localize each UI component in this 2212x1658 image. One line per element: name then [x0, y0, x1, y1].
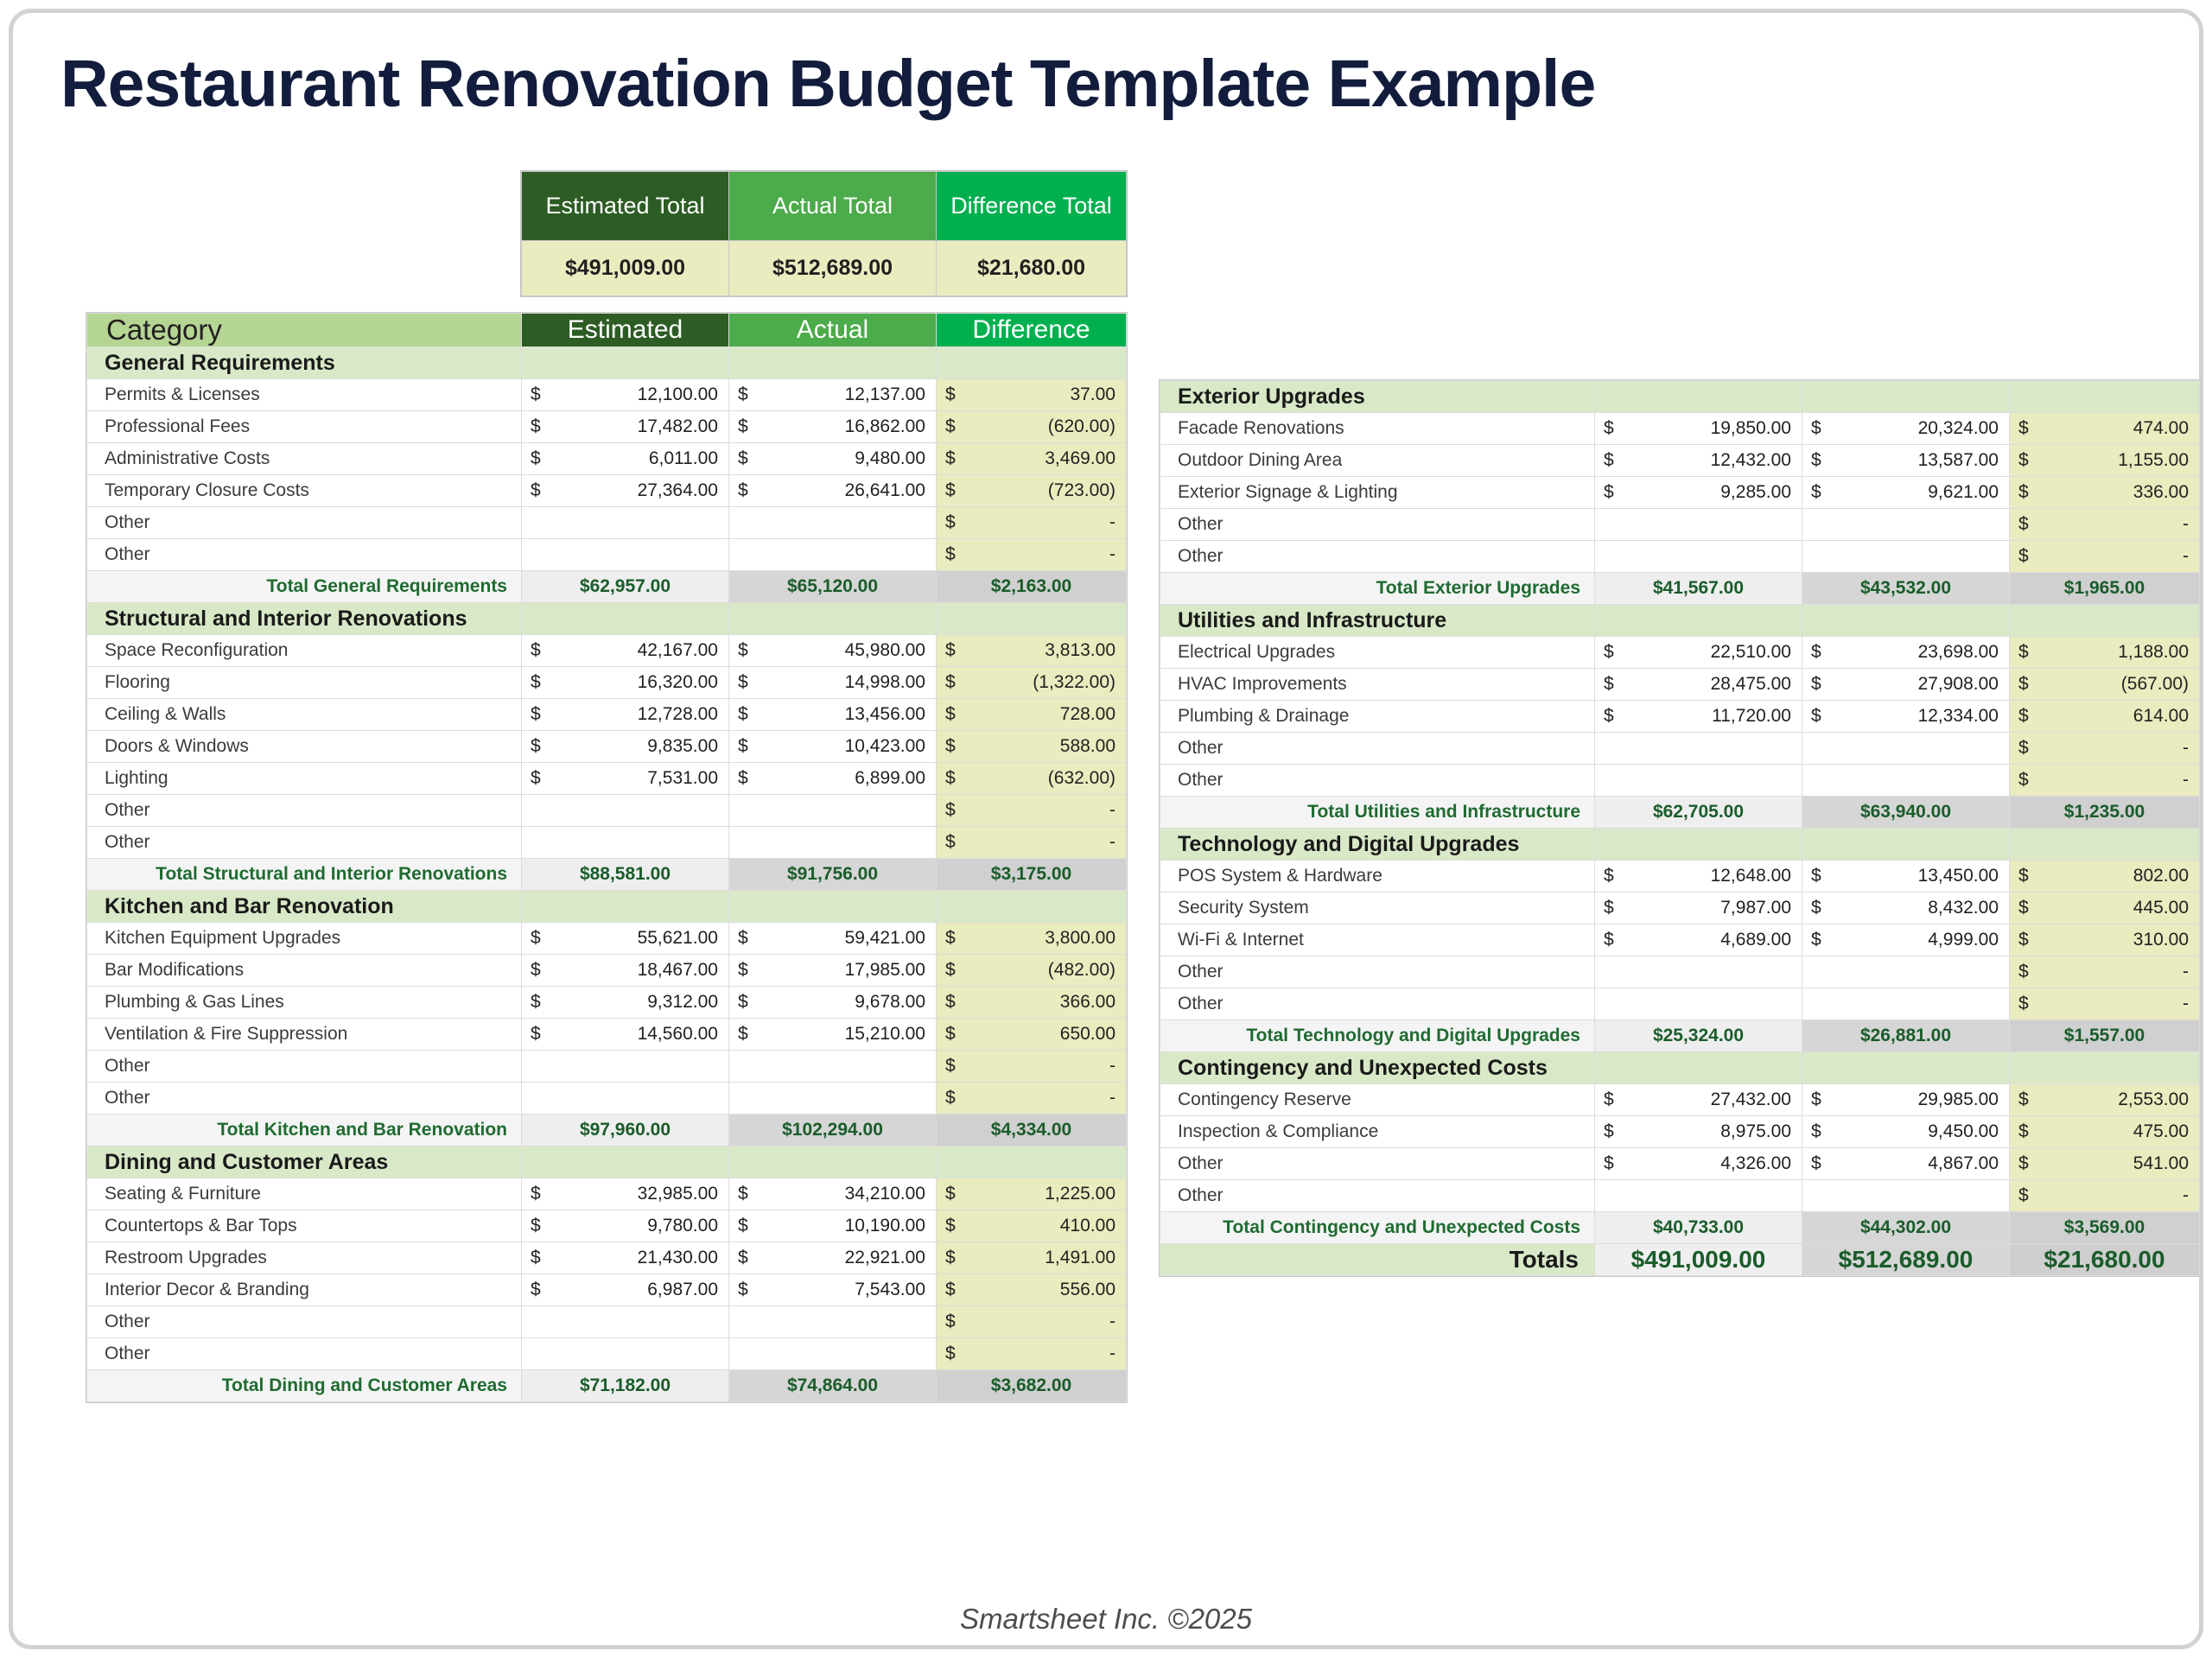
section-total-label: Total Utilities and Infrastructure	[1160, 797, 1595, 829]
line-item-label[interactable]: Doors & Windows	[87, 731, 522, 763]
line-item-actual[interactable]: $23,698.00	[1802, 637, 2010, 669]
line-item-difference[interactable]: $-	[2010, 956, 2200, 988]
line-item-label[interactable]: Permits & Licenses	[87, 379, 522, 411]
line-item-difference[interactable]: $614.00	[2010, 701, 2200, 733]
section-total-estimated: $88,581.00	[522, 859, 729, 891]
line-item-actual[interactable]	[1802, 509, 2010, 541]
line-item-estimated[interactable]: $55,621.00	[522, 923, 729, 955]
line-item-actual[interactable]: $7,543.00	[729, 1274, 937, 1306]
line-item-label[interactable]: Outdoor Dining Area	[1160, 445, 1595, 477]
section-total-row: Total Exterior Upgrades$41,567.00$43,532…	[1160, 573, 2200, 605]
currency-symbol: $	[531, 672, 541, 693]
currency-symbol: $	[738, 960, 748, 981]
line-item-estimated[interactable]: $12,648.00	[1595, 861, 1802, 893]
currency-symbol: $	[1811, 866, 1821, 886]
line-item-actual[interactable]	[1802, 1180, 2010, 1212]
line-item-estimated[interactable]: $14,560.00	[522, 1019, 729, 1051]
line-item-actual[interactable]: $12,334.00	[1802, 701, 2010, 733]
section-header-blank-cell	[1802, 381, 2010, 413]
section-total-difference: $1,235.00	[2010, 797, 2200, 829]
line-item-actual[interactable]	[1802, 541, 2010, 573]
line-item-estimated[interactable]	[522, 507, 729, 539]
currency-symbol: $	[945, 1344, 956, 1364]
line-item-difference[interactable]: $(482.00)	[937, 955, 1127, 987]
currency-symbol: $	[2018, 450, 2029, 471]
line-item-estimated[interactable]: $27,364.00	[522, 475, 729, 507]
line-item-estimated[interactable]: $18,467.00	[522, 955, 729, 987]
section-header-blank-cell	[2010, 829, 2200, 861]
line-item-difference[interactable]: $410.00	[937, 1210, 1127, 1242]
line-item-difference[interactable]: $-	[937, 1306, 1127, 1338]
line-item-label[interactable]: Other	[1160, 733, 1595, 765]
currency-symbol: $	[945, 992, 956, 1013]
currency-symbol: $	[945, 1280, 956, 1300]
table-row: Other$-	[87, 1306, 1127, 1338]
line-item-actual[interactable]	[729, 1051, 937, 1083]
currency-symbol: $	[1604, 482, 1614, 503]
line-item-estimated[interactable]	[522, 1083, 729, 1115]
line-item-difference[interactable]: $-	[2010, 541, 2200, 573]
line-item-actual[interactable]	[729, 539, 937, 571]
line-item-difference[interactable]: $(723.00)	[937, 475, 1127, 507]
line-item-difference[interactable]: $445.00	[2010, 893, 2200, 924]
line-item-actual[interactable]: $34,210.00	[729, 1178, 937, 1210]
section-header-blank-cell	[1802, 1052, 2010, 1084]
line-item-actual[interactable]	[729, 507, 937, 539]
table-row: Professional Fees$17,482.00$16,862.00$(6…	[87, 411, 1127, 443]
section-total-row: Total Technology and Digital Upgrades$25…	[1160, 1020, 2200, 1052]
line-item-difference[interactable]: $3,813.00	[937, 635, 1127, 667]
currency-symbol: $	[738, 1248, 748, 1268]
table-row: Contingency Reserve$27,432.00$29,985.00$…	[1160, 1084, 2200, 1116]
line-item-estimated[interactable]: $19,850.00	[1595, 413, 1802, 445]
currency-symbol: $	[945, 1088, 956, 1109]
line-item-actual[interactable]	[1802, 765, 2010, 797]
currency-symbol: $	[738, 992, 748, 1013]
currency-symbol: $	[1811, 1153, 1821, 1174]
section-header-blank-cell	[729, 1147, 937, 1178]
line-item-actual[interactable]: $13,587.00	[1802, 445, 2010, 477]
section-header-blank-cell	[937, 347, 1127, 379]
column-header-category: Category	[87, 314, 522, 347]
line-item-label[interactable]: Other	[87, 539, 522, 571]
line-item-estimated[interactable]: $12,100.00	[522, 379, 729, 411]
currency-symbol: $	[738, 1280, 748, 1300]
currency-symbol: $	[2018, 642, 2029, 663]
currency-symbol: $	[2018, 674, 2029, 695]
line-item-estimated[interactable]: $7,531.00	[522, 763, 729, 795]
line-item-label[interactable]: HVAC Improvements	[1160, 669, 1595, 701]
line-item-label[interactable]: Facade Renovations	[1160, 413, 1595, 445]
currency-symbol: $	[738, 704, 748, 725]
table-row: Plumbing & Drainage$11,720.00$12,334.00$…	[1160, 701, 2200, 733]
line-item-estimated[interactable]: $11,720.00	[1595, 701, 1802, 733]
section-total-actual: $44,302.00	[1802, 1212, 2010, 1244]
line-item-label[interactable]: Other	[1160, 1148, 1595, 1180]
currency-symbol: $	[945, 1312, 956, 1332]
line-item-actual[interactable]: $6,899.00	[729, 763, 937, 795]
line-item-actual[interactable]: $15,210.00	[729, 1019, 937, 1051]
line-item-estimated[interactable]: $9,835.00	[522, 731, 729, 763]
line-item-difference[interactable]: $-	[937, 1338, 1127, 1370]
line-item-difference[interactable]: $1,491.00	[937, 1242, 1127, 1274]
line-item-label[interactable]: Security System	[1160, 893, 1595, 924]
line-item-estimated[interactable]	[1595, 509, 1802, 541]
line-item-label[interactable]: Electrical Upgrades	[1160, 637, 1595, 669]
line-item-difference[interactable]: $728.00	[937, 699, 1127, 731]
line-item-difference[interactable]: $-	[937, 507, 1127, 539]
line-item-difference[interactable]: $366.00	[937, 987, 1127, 1019]
line-item-label[interactable]: Other	[1160, 765, 1595, 797]
line-item-actual[interactable]: $16,862.00	[729, 411, 937, 443]
section-header-blank-cell	[2010, 1052, 2200, 1084]
line-item-estimated[interactable]	[522, 539, 729, 571]
line-item-actual[interactable]	[729, 1338, 937, 1370]
line-item-difference[interactable]: $475.00	[2010, 1116, 2200, 1148]
section-header-blank-cell	[937, 891, 1127, 923]
line-item-difference[interactable]: $3,469.00	[937, 443, 1127, 475]
section-total-label: Total General Requirements	[87, 571, 522, 603]
line-item-label[interactable]: Plumbing & Gas Lines	[87, 987, 522, 1019]
currency-symbol: $	[2018, 546, 2029, 567]
currency-symbol: $	[1604, 418, 1614, 439]
line-item-difference[interactable]: $310.00	[2010, 924, 2200, 956]
currency-symbol: $	[945, 512, 956, 533]
currency-symbol: $	[531, 480, 541, 501]
table-row: Other$-	[87, 795, 1127, 827]
line-item-label[interactable]: Other	[87, 827, 522, 859]
line-item-actual[interactable]	[729, 827, 937, 859]
table-row: Security System$7,987.00$8,432.00$445.00	[1160, 893, 2200, 924]
line-item-label[interactable]: Other	[87, 1051, 522, 1083]
line-item-estimated[interactable]: $8,975.00	[1595, 1116, 1802, 1148]
line-item-estimated[interactable]: $6,011.00	[522, 443, 729, 475]
line-item-actual[interactable]: $14,998.00	[729, 667, 937, 699]
currency-symbol: $	[738, 672, 748, 693]
line-item-estimated[interactable]: $28,475.00	[1595, 669, 1802, 701]
table-row: Countertops & Bar Tops$9,780.00$10,190.0…	[87, 1210, 1127, 1242]
section-header-row: Technology and Digital Upgrades	[1160, 829, 2200, 861]
section-header-blank-cell	[1595, 605, 1802, 637]
line-item-estimated[interactable]: $22,510.00	[1595, 637, 1802, 669]
line-item-difference[interactable]: $588.00	[937, 731, 1127, 763]
section-header-row: General Requirements	[87, 347, 1127, 379]
line-item-difference[interactable]: $-	[2010, 1180, 2200, 1212]
line-item-difference[interactable]: $650.00	[937, 1019, 1127, 1051]
currency-symbol: $	[2018, 866, 2029, 886]
line-item-actual[interactable]: $4,867.00	[1802, 1148, 2010, 1180]
line-item-label[interactable]: Other	[1160, 988, 1595, 1020]
section-header-blank-cell	[2010, 605, 2200, 637]
line-item-label[interactable]: Interior Decor & Branding	[87, 1274, 522, 1306]
line-item-difference[interactable]: $802.00	[2010, 861, 2200, 893]
line-item-estimated[interactable]: $42,167.00	[522, 635, 729, 667]
currency-symbol: $	[945, 1248, 956, 1268]
section-total-difference: $3,682.00	[937, 1370, 1127, 1402]
section-header-row: Exterior Upgrades	[1160, 381, 2200, 413]
line-item-actual[interactable]	[1802, 733, 2010, 765]
currency-symbol: $	[531, 704, 541, 725]
line-item-estimated[interactable]	[522, 1051, 729, 1083]
line-item-difference[interactable]: $1,155.00	[2010, 445, 2200, 477]
line-item-label[interactable]: Lighting	[87, 763, 522, 795]
currency-symbol: $	[945, 1056, 956, 1077]
line-item-estimated[interactable]	[522, 1306, 729, 1338]
line-item-actual[interactable]: $9,621.00	[1802, 477, 2010, 509]
currency-symbol: $	[945, 480, 956, 501]
line-item-difference[interactable]: $(1,322.00)	[937, 667, 1127, 699]
line-item-actual[interactable]: $27,908.00	[1802, 669, 2010, 701]
line-item-difference[interactable]: $-	[937, 795, 1127, 827]
line-item-actual[interactable]: $10,423.00	[729, 731, 937, 763]
line-item-estimated[interactable]	[1595, 733, 1802, 765]
currency-symbol: $	[1604, 1121, 1614, 1142]
line-item-actual[interactable]: $29,985.00	[1802, 1084, 2010, 1116]
section-total-difference: $3,569.00	[2010, 1212, 2200, 1244]
currency-symbol: $	[945, 544, 956, 565]
currency-symbol: $	[1811, 898, 1821, 918]
line-item-difference[interactable]: $541.00	[2010, 1148, 2200, 1180]
line-item-difference[interactable]: $-	[2010, 988, 2200, 1020]
line-item-label[interactable]: Other	[1160, 1180, 1595, 1212]
line-item-estimated[interactable]	[522, 795, 729, 827]
line-item-estimated[interactable]: $27,432.00	[1595, 1084, 1802, 1116]
section-header-row: Structural and Interior Renovations	[87, 603, 1127, 635]
line-item-estimated[interactable]: $17,482.00	[522, 411, 729, 443]
line-item-actual[interactable]: $9,450.00	[1802, 1116, 2010, 1148]
line-item-label[interactable]: Other	[87, 1338, 522, 1370]
line-item-difference[interactable]: $3,800.00	[937, 923, 1127, 955]
line-item-estimated[interactable]: $6,987.00	[522, 1274, 729, 1306]
line-item-actual[interactable]: $9,678.00	[729, 987, 937, 1019]
line-item-label[interactable]: Wi-Fi & Internet	[1160, 924, 1595, 956]
line-item-label[interactable]: Flooring	[87, 667, 522, 699]
line-item-estimated[interactable]: $12,432.00	[1595, 445, 1802, 477]
line-item-estimated[interactable]: $16,320.00	[522, 667, 729, 699]
line-item-label[interactable]: Plumbing & Drainage	[1160, 701, 1595, 733]
currency-symbol: $	[1604, 866, 1614, 886]
summary-header-actual-total: Actual Total	[729, 172, 937, 241]
section-total-difference: $3,175.00	[937, 859, 1127, 891]
section-header-blank-cell	[1595, 1052, 1802, 1084]
line-item-label[interactable]: Kitchen Equipment Upgrades	[87, 923, 522, 955]
currency-symbol: $	[945, 736, 956, 757]
grand-total-label: Totals	[1160, 1244, 1595, 1276]
line-item-label[interactable]: Seating & Furniture	[87, 1178, 522, 1210]
summary-value-estimated-total: $491,009.00	[522, 241, 729, 296]
section-total-estimated: $25,324.00	[1595, 1020, 1802, 1052]
line-item-actual[interactable]: $45,980.00	[729, 635, 937, 667]
line-item-label[interactable]: Other	[1160, 509, 1595, 541]
currency-symbol: $	[1604, 642, 1614, 663]
summary-header-difference-total: Difference Total	[937, 172, 1127, 241]
table-row: Temporary Closure Costs$27,364.00$26,641…	[87, 475, 1127, 507]
line-item-label[interactable]: Other	[1160, 541, 1595, 573]
line-item-actual[interactable]: $26,641.00	[729, 475, 937, 507]
table-row: Inspection & Compliance$8,975.00$9,450.0…	[1160, 1116, 2200, 1148]
line-item-label[interactable]: Bar Modifications	[87, 955, 522, 987]
section-header-blank-cell	[522, 1147, 729, 1178]
line-item-estimated[interactable]: $9,285.00	[1595, 477, 1802, 509]
line-item-label[interactable]: Exterior Signage & Lighting	[1160, 477, 1595, 509]
line-item-label[interactable]: Other	[87, 795, 522, 827]
line-item-actual[interactable]: $9,480.00	[729, 443, 937, 475]
line-item-difference[interactable]: $336.00	[2010, 477, 2200, 509]
line-item-actual[interactable]	[729, 1083, 937, 1115]
section-total-estimated: $97,960.00	[522, 1115, 729, 1147]
line-item-estimated[interactable]	[1595, 541, 1802, 573]
currency-symbol: $	[1604, 898, 1614, 918]
line-item-estimated[interactable]: $32,985.00	[522, 1178, 729, 1210]
section-total-row: Total Utilities and Infrastructure$62,70…	[1160, 797, 2200, 829]
line-item-actual[interactable]: $22,921.00	[729, 1242, 937, 1274]
line-item-actual[interactable]	[729, 1306, 937, 1338]
line-item-estimated[interactable]: $4,326.00	[1595, 1148, 1802, 1180]
line-item-estimated[interactable]: $9,780.00	[522, 1210, 729, 1242]
section-header-blank-cell	[729, 891, 937, 923]
line-item-difference[interactable]: $(632.00)	[937, 763, 1127, 795]
line-item-difference[interactable]: $1,188.00	[2010, 637, 2200, 669]
currency-symbol: $	[1604, 930, 1614, 950]
section-total-estimated: $62,957.00	[522, 571, 729, 603]
line-item-actual[interactable]: $10,190.00	[729, 1210, 937, 1242]
page-frame: Restaurant Renovation Budget Template Ex…	[9, 9, 2203, 1649]
table-row: Space Reconfiguration$42,167.00$45,980.0…	[87, 635, 1127, 667]
line-item-actual[interactable]: $13,450.00	[1802, 861, 2010, 893]
currency-symbol: $	[945, 800, 956, 821]
table-row: Kitchen Equipment Upgrades$55,621.00$59,…	[87, 923, 1127, 955]
currency-symbol: $	[2018, 962, 2029, 982]
line-item-label[interactable]: Countertops & Bar Tops	[87, 1210, 522, 1242]
line-item-label[interactable]: Professional Fees	[87, 411, 522, 443]
line-item-label[interactable]: Other	[87, 1306, 522, 1338]
line-item-actual[interactable]: $12,137.00	[729, 379, 937, 411]
currency-symbol: $	[531, 992, 541, 1013]
line-item-estimated[interactable]: $12,728.00	[522, 699, 729, 731]
line-item-actual[interactable]: $59,421.00	[729, 923, 937, 955]
table-row: Interior Decor & Branding$6,987.00$7,543…	[87, 1274, 1127, 1306]
line-item-estimated[interactable]	[1595, 956, 1802, 988]
currency-symbol: $	[945, 1024, 956, 1045]
line-item-difference[interactable]: $(567.00)	[2010, 669, 2200, 701]
summary-header-estimated-total: Estimated Total	[522, 172, 729, 241]
line-item-estimated[interactable]	[522, 827, 729, 859]
currency-symbol: $	[531, 640, 541, 661]
line-item-actual[interactable]	[1802, 956, 2010, 988]
line-item-difference[interactable]: $-	[937, 827, 1127, 859]
line-item-difference[interactable]: $474.00	[2010, 413, 2200, 445]
line-item-label[interactable]: Other	[87, 507, 522, 539]
table-row: Other$-	[87, 539, 1127, 571]
section-header-label: General Requirements	[87, 347, 522, 379]
line-item-difference[interactable]: $1,225.00	[937, 1178, 1127, 1210]
line-item-difference[interactable]: $556.00	[937, 1274, 1127, 1306]
line-item-actual[interactable]	[1802, 988, 2010, 1020]
line-item-estimated[interactable]	[1595, 765, 1802, 797]
currency-symbol: $	[1811, 1121, 1821, 1142]
table-row: Other$4,326.00$4,867.00$541.00	[1160, 1148, 2200, 1180]
line-item-estimated[interactable]: $9,312.00	[522, 987, 729, 1019]
currency-symbol: $	[945, 416, 956, 437]
line-item-difference[interactable]: $-	[937, 539, 1127, 571]
line-item-difference[interactable]: $-	[2010, 765, 2200, 797]
line-item-estimated[interactable]: $4,689.00	[1595, 924, 1802, 956]
line-item-label[interactable]: Restroom Upgrades	[87, 1242, 522, 1274]
currency-symbol: $	[2018, 770, 2029, 791]
currency-symbol: $	[531, 928, 541, 949]
currency-symbol: $	[738, 1184, 748, 1204]
line-item-actual[interactable]: $20,324.00	[1802, 413, 2010, 445]
line-item-actual[interactable]	[729, 795, 937, 827]
line-item-difference[interactable]: $-	[2010, 509, 2200, 541]
currency-symbol: $	[2018, 1121, 2029, 1142]
currency-symbol: $	[531, 1248, 541, 1268]
currency-symbol: $	[1604, 450, 1614, 471]
line-item-label[interactable]: Inspection & Compliance	[1160, 1116, 1595, 1148]
line-item-difference[interactable]: $37.00	[937, 379, 1127, 411]
line-item-difference[interactable]: $-	[937, 1083, 1127, 1115]
currency-symbol: $	[945, 672, 956, 693]
section-total-row: Total Kitchen and Bar Renovation$97,960.…	[87, 1115, 1127, 1147]
line-item-label[interactable]: Ceiling & Walls	[87, 699, 522, 731]
table-row: Other$-	[1160, 765, 2200, 797]
table-row: POS System & Hardware$12,648.00$13,450.0…	[1160, 861, 2200, 893]
line-item-difference[interactable]: $-	[937, 1051, 1127, 1083]
line-item-label[interactable]: Other	[1160, 956, 1595, 988]
table-row: Other$-	[1160, 733, 2200, 765]
line-item-actual[interactable]: $8,432.00	[1802, 893, 2010, 924]
currency-symbol: $	[2018, 418, 2029, 439]
line-item-estimated[interactable]: $21,430.00	[522, 1242, 729, 1274]
line-item-label[interactable]: POS System & Hardware	[1160, 861, 1595, 893]
line-item-label[interactable]: Space Reconfiguration	[87, 635, 522, 667]
line-item-actual[interactable]: $13,456.00	[729, 699, 937, 731]
line-item-difference[interactable]: $2,553.00	[2010, 1084, 2200, 1116]
line-item-difference[interactable]: $(620.00)	[937, 411, 1127, 443]
section-header-label: Technology and Digital Upgrades	[1160, 829, 1595, 861]
line-item-label[interactable]: Contingency Reserve	[1160, 1084, 1595, 1116]
section-total-label: Total Structural and Interior Renovation…	[87, 859, 522, 891]
currency-symbol: $	[945, 704, 956, 725]
line-item-estimated[interactable]: $7,987.00	[1595, 893, 1802, 924]
currency-symbol: $	[945, 928, 956, 949]
table-row: Facade Renovations$19,850.00$20,324.00$4…	[1160, 413, 2200, 445]
line-item-label[interactable]: Other	[87, 1083, 522, 1115]
line-item-actual[interactable]: $17,985.00	[729, 955, 937, 987]
section-total-row: Total General Requirements$62,957.00$65,…	[87, 571, 1127, 603]
line-item-label[interactable]: Administrative Costs	[87, 443, 522, 475]
footer-attribution: Smartsheet Inc. ©2025	[13, 1603, 2199, 1636]
line-item-difference[interactable]: $-	[2010, 733, 2200, 765]
currency-symbol: $	[738, 768, 748, 789]
table-row: Other$-	[1160, 541, 2200, 573]
line-item-label[interactable]: Ventilation & Fire Suppression	[87, 1019, 522, 1051]
currency-symbol: $	[2018, 706, 2029, 727]
line-item-estimated[interactable]	[1595, 1180, 1802, 1212]
line-item-estimated[interactable]	[1595, 988, 1802, 1020]
currency-symbol: $	[945, 1216, 956, 1236]
line-item-label[interactable]: Temporary Closure Costs	[87, 475, 522, 507]
section-total-difference: $1,965.00	[2010, 573, 2200, 605]
table-row: Administrative Costs$6,011.00$9,480.00$3…	[87, 443, 1127, 475]
section-header-blank-cell	[1802, 605, 2010, 637]
currency-symbol: $	[531, 448, 541, 469]
section-header-blank-cell	[729, 347, 937, 379]
line-item-estimated[interactable]	[522, 1338, 729, 1370]
line-item-actual[interactable]: $4,999.00	[1802, 924, 2010, 956]
currency-symbol: $	[531, 1280, 541, 1300]
currency-symbol: $	[738, 448, 748, 469]
